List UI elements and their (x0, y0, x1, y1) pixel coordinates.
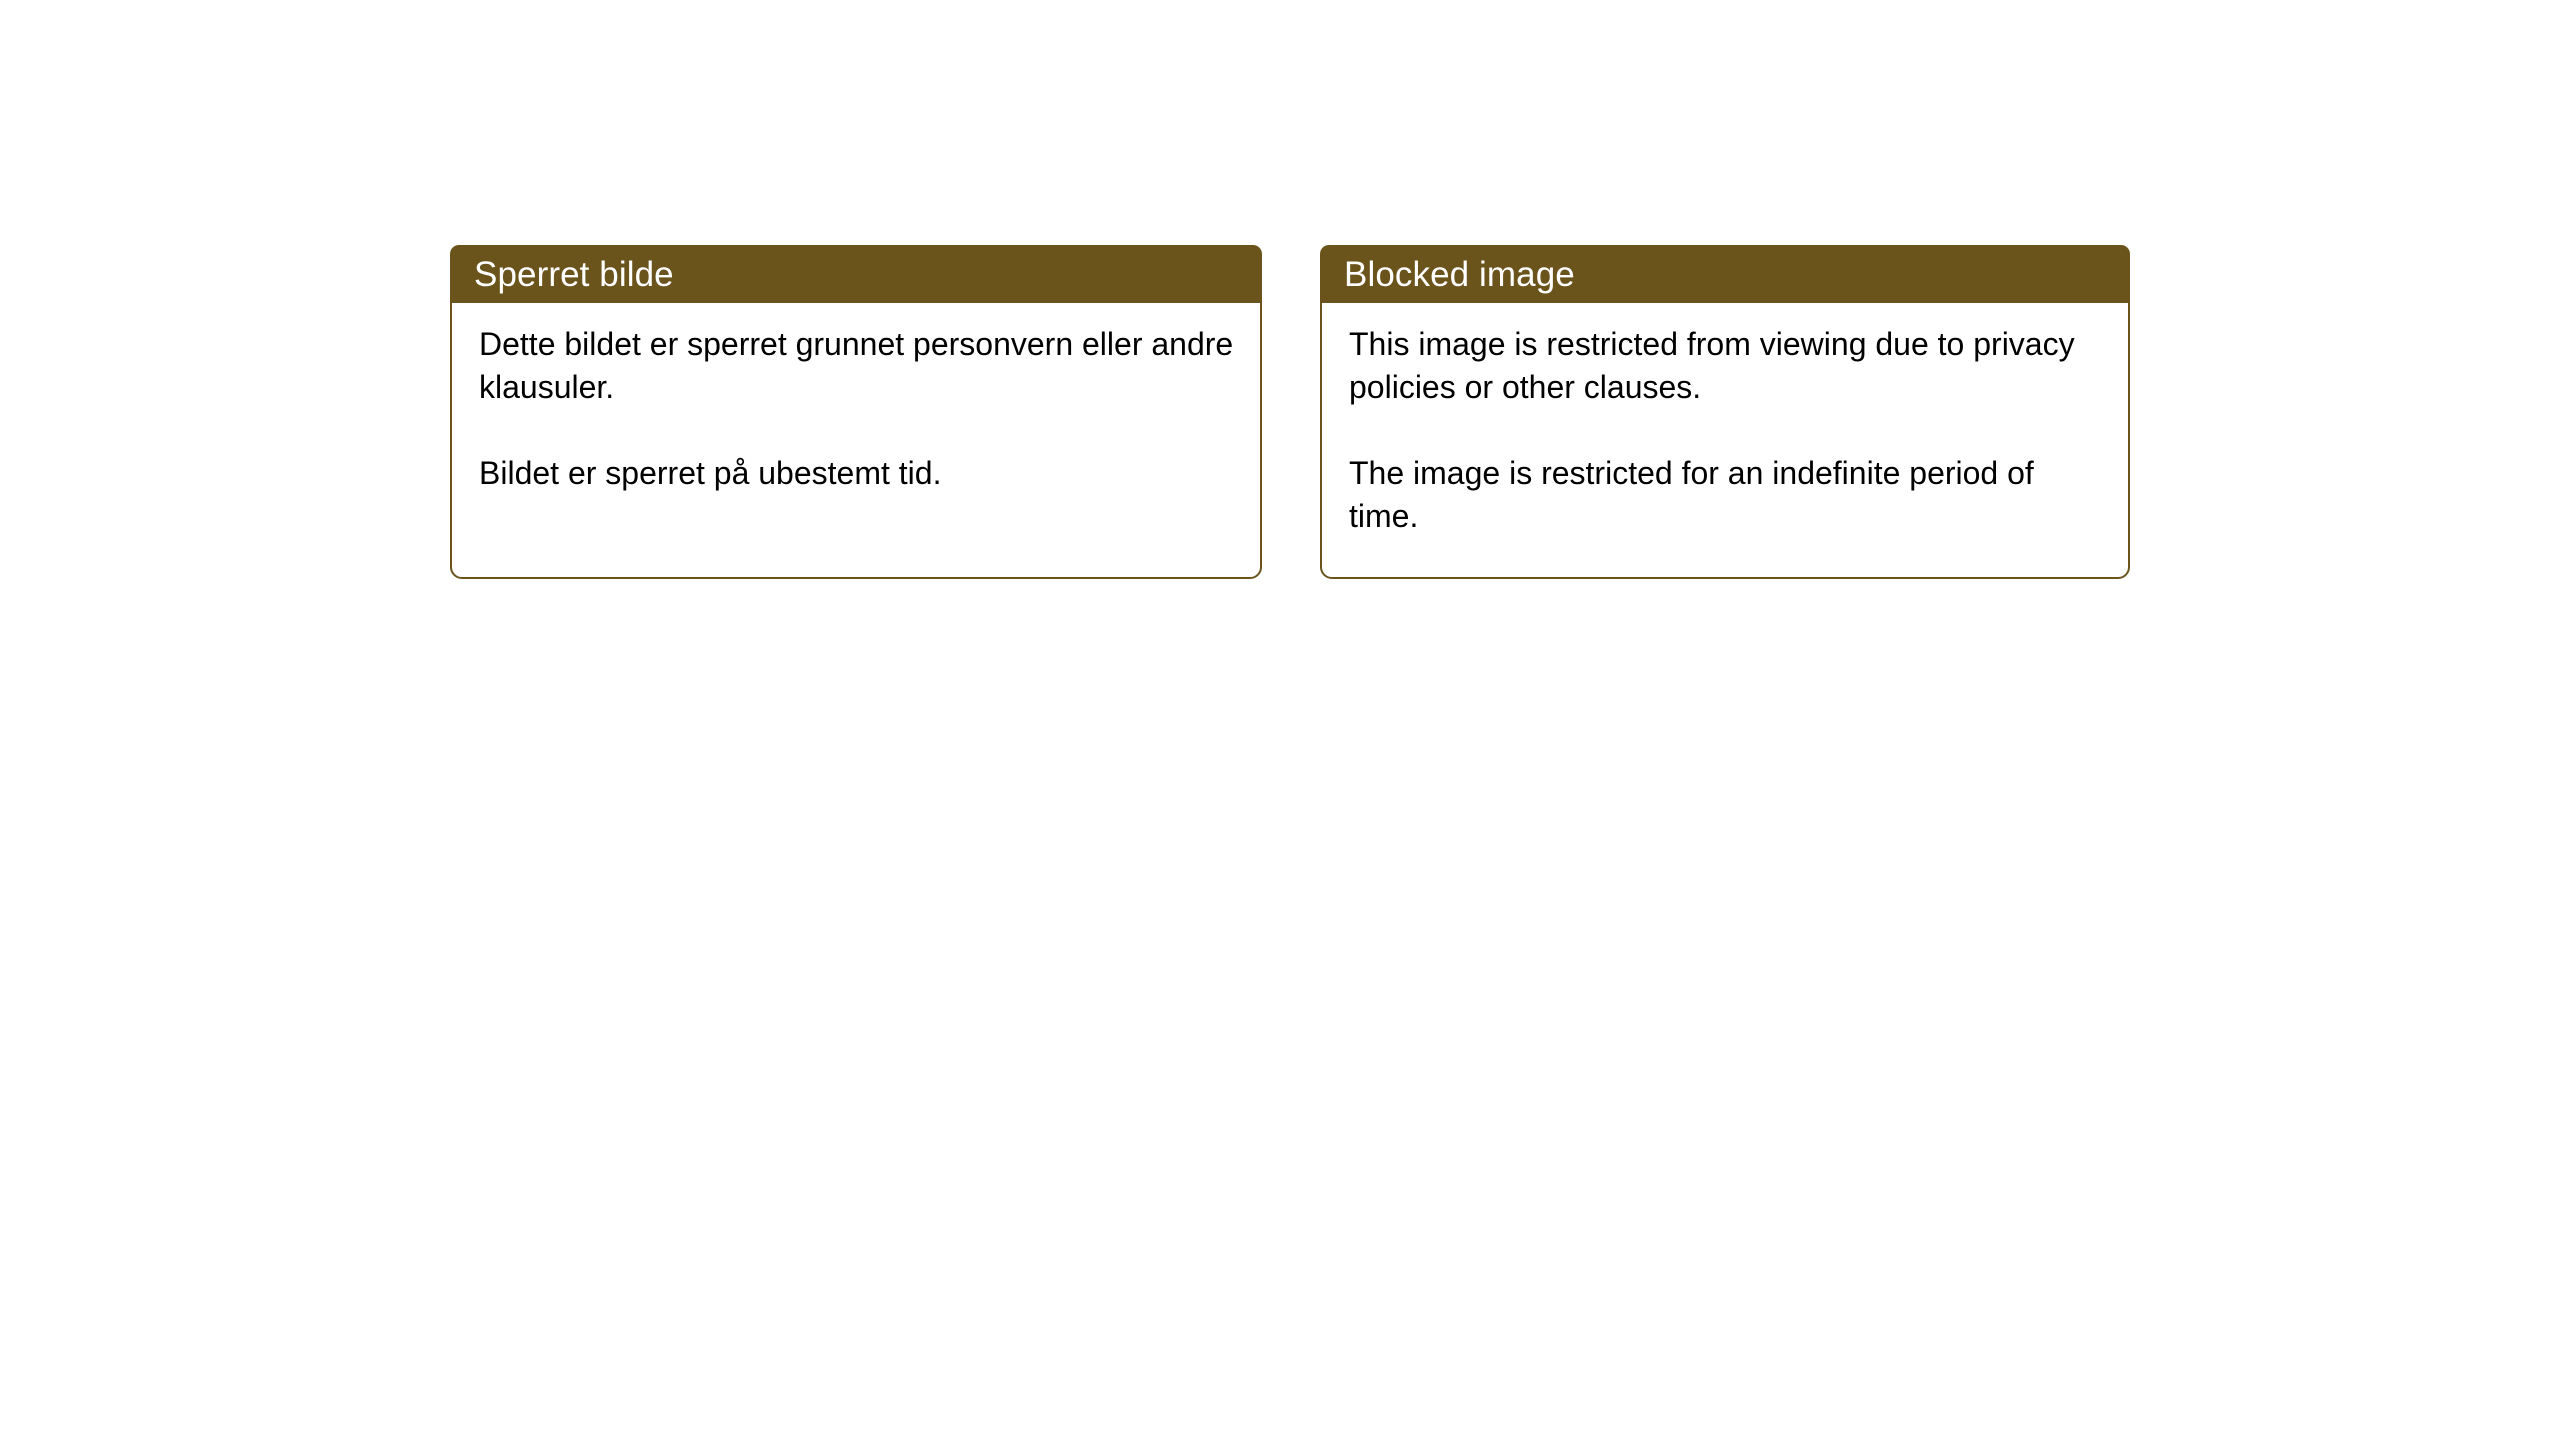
card-header-norwegian: Sperret bilde (450, 245, 1262, 303)
card-body-english: This image is restricted from viewing du… (1322, 303, 2128, 560)
card-paragraph-duration-norwegian: Bildet er sperret på ubestemt tid. (479, 452, 1238, 495)
card-title-english: Blocked image (1344, 255, 1575, 295)
blocked-image-card-norwegian: Sperret bilde Dette bildet er sperret gr… (450, 245, 1262, 579)
blocked-image-notices: Sperret bilde Dette bildet er sperret gr… (450, 245, 2130, 579)
card-paragraph-reason-english: This image is restricted from viewing du… (1349, 323, 2106, 409)
card-paragraph-reason-norwegian: Dette bildet er sperret grunnet personve… (479, 323, 1238, 409)
card-paragraph-duration-english: The image is restricted for an indefinit… (1349, 452, 2106, 538)
card-header-english: Blocked image (1320, 245, 2130, 303)
card-body-norwegian: Dette bildet er sperret grunnet personve… (452, 303, 1260, 517)
card-title-norwegian: Sperret bilde (474, 255, 674, 295)
page-background: Sperret bilde Dette bildet er sperret gr… (0, 0, 2560, 1440)
blocked-image-card-english: Blocked image This image is restricted f… (1320, 245, 2130, 579)
